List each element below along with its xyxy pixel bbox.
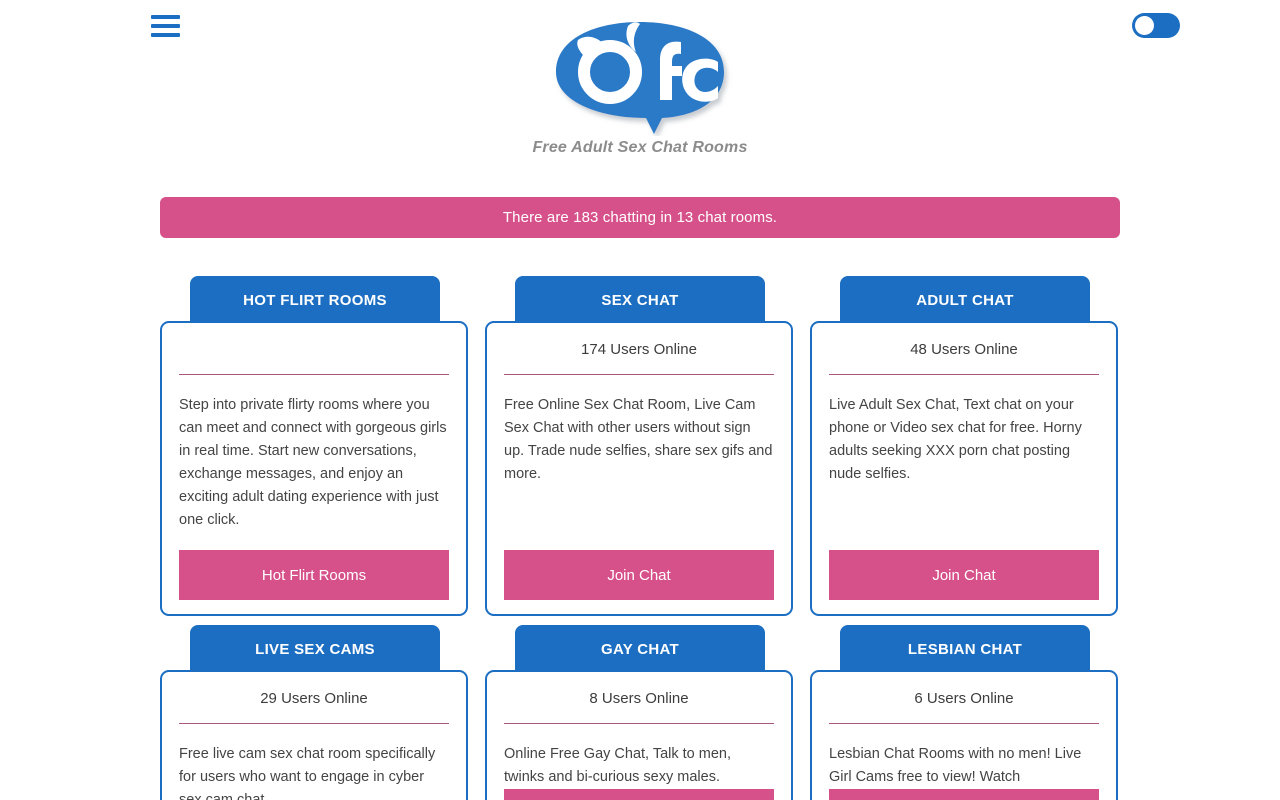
status-banner-text: There are 183 chatting in 13 chat rooms. bbox=[503, 209, 777, 226]
card-users-online: 6 Users Online bbox=[829, 686, 1099, 712]
card-body: Step into private flirty rooms where you… bbox=[160, 321, 468, 616]
card-join-button[interactable]: Join Chat bbox=[504, 550, 774, 600]
ofc-speech-bubble-logo-icon[interactable] bbox=[548, 16, 733, 136]
chat-card-gay-chat: GAY CHAT 8 Users Online Online Free Gay … bbox=[485, 625, 795, 800]
card-users-online: 48 Users Online bbox=[829, 337, 1099, 363]
card-users-online bbox=[179, 337, 449, 363]
card-description: Step into private flirty rooms where you… bbox=[179, 394, 449, 538]
card-description: Online Free Gay Chat, Talk to men, twink… bbox=[504, 743, 774, 789]
card-join-button[interactable]: Hot Flirt Rooms bbox=[179, 550, 449, 600]
page-root: Free Adult Sex Chat Rooms There are 183 … bbox=[0, 0, 1280, 800]
card-join-button[interactable]: Join Chat bbox=[829, 789, 1099, 800]
chat-card-lesbian-chat: LESBIAN CHAT 6 Users Online Lesbian Chat… bbox=[810, 625, 1120, 800]
card-divider bbox=[829, 374, 1099, 375]
card-join-button[interactable]: Join Chat bbox=[829, 550, 1099, 600]
card-join-button[interactable]: Join Chat bbox=[504, 789, 774, 800]
card-title-tab[interactable]: ADULT CHAT bbox=[840, 276, 1090, 324]
card-divider bbox=[179, 374, 449, 375]
card-body: 29 Users Online Free live cam sex chat r… bbox=[160, 670, 468, 800]
card-title-tab[interactable]: SEX CHAT bbox=[515, 276, 765, 324]
chat-card-sex-chat: SEX CHAT 174 Users Online Free Online Se… bbox=[485, 276, 795, 616]
card-body: 8 Users Online Online Free Gay Chat, Tal… bbox=[485, 670, 793, 800]
card-title: LESBIAN CHAT bbox=[908, 641, 1022, 658]
card-divider bbox=[504, 374, 774, 375]
chat-card-adult-chat: ADULT CHAT 48 Users Online Live Adult Se… bbox=[810, 276, 1120, 616]
card-users-online: 8 Users Online bbox=[504, 686, 774, 712]
card-divider bbox=[829, 723, 1099, 724]
chat-card-live-sex-cams: LIVE SEX CAMS 29 Users Online Free live … bbox=[160, 625, 470, 800]
card-body: 174 Users Online Free Online Sex Chat Ro… bbox=[485, 321, 793, 616]
card-title: LIVE SEX CAMS bbox=[255, 641, 375, 658]
card-title-tab[interactable]: LIVE SEX CAMS bbox=[190, 625, 440, 673]
card-title: SEX CHAT bbox=[601, 292, 678, 309]
card-title: HOT FLIRT ROOMS bbox=[243, 292, 387, 309]
card-title-tab[interactable]: HOT FLIRT ROOMS bbox=[190, 276, 440, 324]
card-divider bbox=[504, 723, 774, 724]
card-title: ADULT CHAT bbox=[916, 292, 1013, 309]
card-users-online: 174 Users Online bbox=[504, 337, 774, 363]
card-title-tab[interactable]: GAY CHAT bbox=[515, 625, 765, 673]
card-users-online: 29 Users Online bbox=[179, 686, 449, 712]
card-description: Free live cam sex chat room specifically… bbox=[179, 743, 449, 800]
card-divider bbox=[179, 723, 449, 724]
site-tagline: Free Adult Sex Chat Rooms bbox=[0, 139, 1280, 157]
card-description: Free Online Sex Chat Room, Live Cam Sex … bbox=[504, 394, 774, 538]
site-logo-area: Free Adult Sex Chat Rooms bbox=[0, 16, 1280, 157]
card-description: Live Adult Sex Chat, Text chat on your p… bbox=[829, 394, 1099, 538]
card-description: Lesbian Chat Rooms with no men! Live Gir… bbox=[829, 743, 1099, 789]
card-body: 48 Users Online Live Adult Sex Chat, Tex… bbox=[810, 321, 1118, 616]
card-title: GAY CHAT bbox=[601, 641, 679, 658]
chat-card-hot-flirt-rooms: HOT FLIRT ROOMS Step into private flirty… bbox=[160, 276, 470, 616]
card-body: 6 Users Online Lesbian Chat Rooms with n… bbox=[810, 670, 1118, 800]
status-banner: There are 183 chatting in 13 chat rooms. bbox=[160, 197, 1120, 238]
card-title-tab[interactable]: LESBIAN CHAT bbox=[840, 625, 1090, 673]
